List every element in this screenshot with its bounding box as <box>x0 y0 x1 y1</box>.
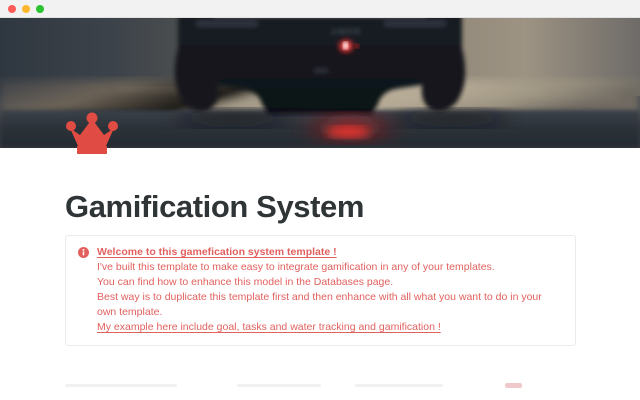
placeholder-bar <box>237 384 321 387</box>
window-titlebar <box>0 0 640 18</box>
callout-block[interactable]: Welcome to this gamefication system temp… <box>65 235 576 346</box>
page-title: Gamification System <box>65 190 364 224</box>
zoom-button[interactable] <box>36 5 44 13</box>
info-icon <box>78 247 89 258</box>
callout-heading: Welcome to this gamefication system temp… <box>97 245 563 260</box>
close-button[interactable] <box>8 5 16 13</box>
page-content: Gamification System Welcome to this game… <box>0 148 640 400</box>
placeholder-bar <box>65 384 177 387</box>
app-window: SONY Gamification System <box>0 0 640 400</box>
placeholder-tag <box>505 383 522 388</box>
callout-text: Welcome to this gamefication system temp… <box>97 245 563 335</box>
callout-line-1: I've built this template to make easy to… <box>97 260 563 275</box>
minimize-button[interactable] <box>22 5 30 13</box>
svg-text:SONY: SONY <box>330 26 360 36</box>
database-preview-row[interactable] <box>65 380 576 392</box>
callout-line-3: Best way is to duplicate this template f… <box>97 290 563 305</box>
crown-icon <box>66 112 118 160</box>
page-icon[interactable] <box>66 112 118 160</box>
placeholder-bar <box>355 384 443 387</box>
callout-line-2: You can find how to enhance this model i… <box>97 275 563 290</box>
callout-line-4: own template. <box>97 305 563 320</box>
callout-link[interactable]: My example here include goal, tasks and … <box>97 320 563 335</box>
